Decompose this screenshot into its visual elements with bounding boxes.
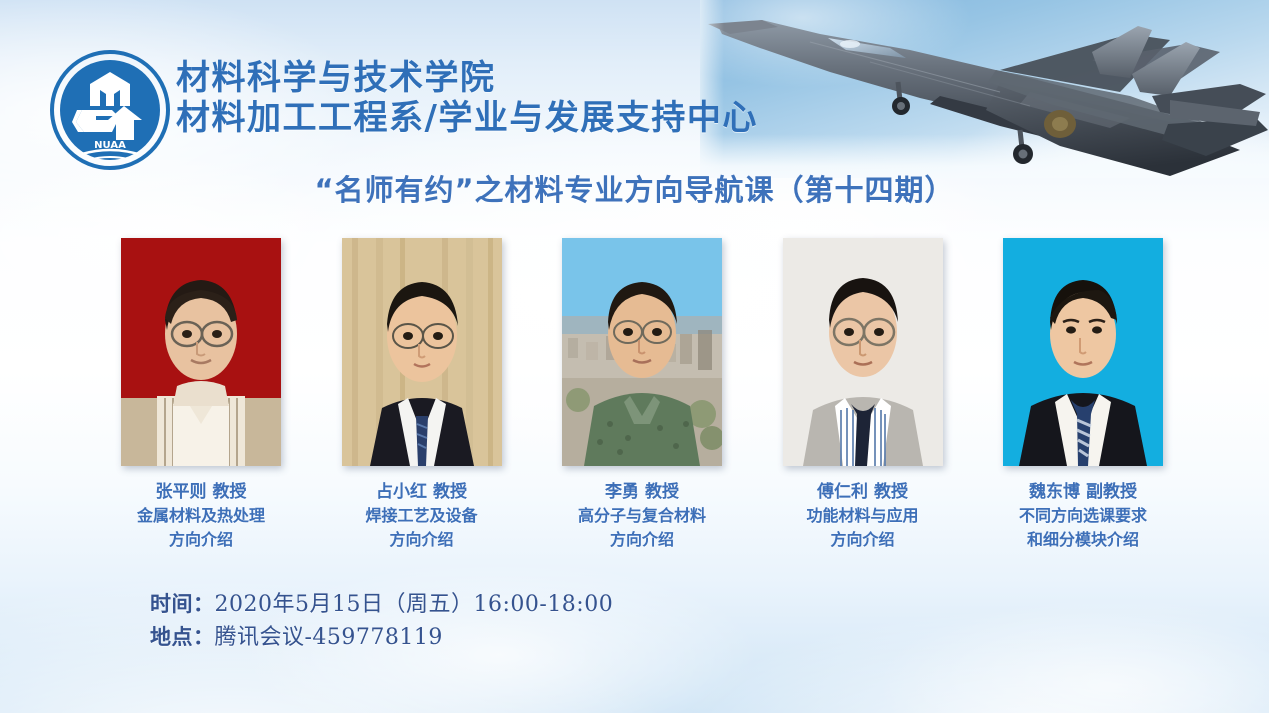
fighter-jet-illustration	[700, 0, 1269, 178]
event-place-line: 地点：腾讯会议-459778119	[150, 621, 613, 654]
speakers-row: 张平则 教授 金属材料及热处理 方向介绍	[112, 238, 1172, 552]
event-time-value: 2020年5月15日（周五）16:00-18:00	[215, 592, 614, 617]
event-time-line: 时间：2020年5月15日（周五）16:00-18:00	[150, 588, 613, 621]
speaker-photo	[562, 238, 722, 466]
speaker-name: 李勇 教授	[578, 480, 706, 504]
speaker-topic-line1: 高分子与复合材料	[578, 504, 706, 528]
speaker-name: 傅仁利 教授	[806, 480, 918, 504]
event-place-label: 地点：	[150, 625, 215, 649]
speaker-topic-line2: 方向介绍	[806, 528, 918, 552]
speaker-info: 李勇 教授 高分子与复合材料 方向介绍	[578, 480, 706, 552]
portrait-illustration	[342, 238, 502, 466]
speaker-card: 魏东博 副教授 不同方向选课要求 和细分模块介绍	[994, 238, 1172, 552]
speaker-topic-line1: 功能材料与应用	[806, 504, 918, 528]
speaker-photo	[121, 238, 281, 466]
speaker-card: 李勇 教授 高分子与复合材料 方向介绍	[553, 238, 731, 552]
portrait-illustration	[783, 238, 943, 466]
speaker-topic-line2: 方向介绍	[137, 528, 265, 552]
portrait-illustration	[1003, 238, 1163, 466]
event-place-value: 腾讯会议-459778119	[215, 625, 443, 650]
speaker-topic-line1: 金属材料及热处理	[137, 504, 265, 528]
org-line-1: 材料科学与技术学院	[176, 58, 758, 98]
fighter-jet-photo	[700, 0, 1269, 178]
event-info-block: 时间：2020年5月15日（周五）16:00-18:00 地点：腾讯会议-459…	[150, 588, 613, 654]
speaker-topic-line1: 焊接工艺及设备	[365, 504, 477, 528]
speaker-photo	[783, 238, 943, 466]
speaker-card: 占小红 教授 焊接工艺及设备 方向介绍	[333, 238, 511, 552]
cloud-decoration	[880, 600, 1269, 713]
portrait-illustration	[562, 238, 722, 466]
speaker-info: 魏东博 副教授 不同方向选课要求 和细分模块介绍	[1019, 480, 1147, 552]
speaker-name: 魏东博 副教授	[1019, 480, 1147, 504]
speaker-info: 占小红 教授 焊接工艺及设备 方向介绍	[365, 480, 477, 552]
header-text-block: 材料科学与技术学院 材料加工工程系/学业与发展支持中心	[176, 58, 758, 138]
org-line-2: 材料加工工程系/学业与发展支持中心	[176, 98, 758, 138]
speaker-photo	[1003, 238, 1163, 466]
nuaa-mst-logo: NUAA	[48, 48, 172, 172]
speaker-card: 张平则 教授 金属材料及热处理 方向介绍	[112, 238, 290, 552]
speaker-info: 张平则 教授 金属材料及热处理 方向介绍	[137, 480, 265, 552]
speaker-topic-line1: 不同方向选课要求	[1019, 504, 1147, 528]
event-time-label: 时间：	[150, 592, 215, 616]
page-title: “名师有约”之材料专业方向导航课（第十四期）	[0, 167, 1269, 209]
speaker-card: 傅仁利 教授 功能材料与应用 方向介绍	[774, 238, 952, 552]
speaker-info: 傅仁利 教授 功能材料与应用 方向介绍	[806, 480, 918, 552]
speaker-photo	[342, 238, 502, 466]
speaker-name: 占小红 教授	[365, 480, 477, 504]
page-title-text: “名师有约”之材料专业方向导航课（第十四期）	[314, 167, 954, 209]
poster-canvas: NUAA 材料科学与技术学院 材料加工工程系/学业与发展支持中心 “名师有约”之…	[0, 0, 1269, 713]
speaker-topic-line2: 方向介绍	[365, 528, 477, 552]
speaker-topic-line2: 方向介绍	[578, 528, 706, 552]
speaker-topic-line2: 和细分模块介绍	[1019, 528, 1147, 552]
portrait-illustration	[121, 238, 281, 466]
speaker-name: 张平则 教授	[137, 480, 265, 504]
logo-emblem: NUAA	[48, 48, 172, 172]
